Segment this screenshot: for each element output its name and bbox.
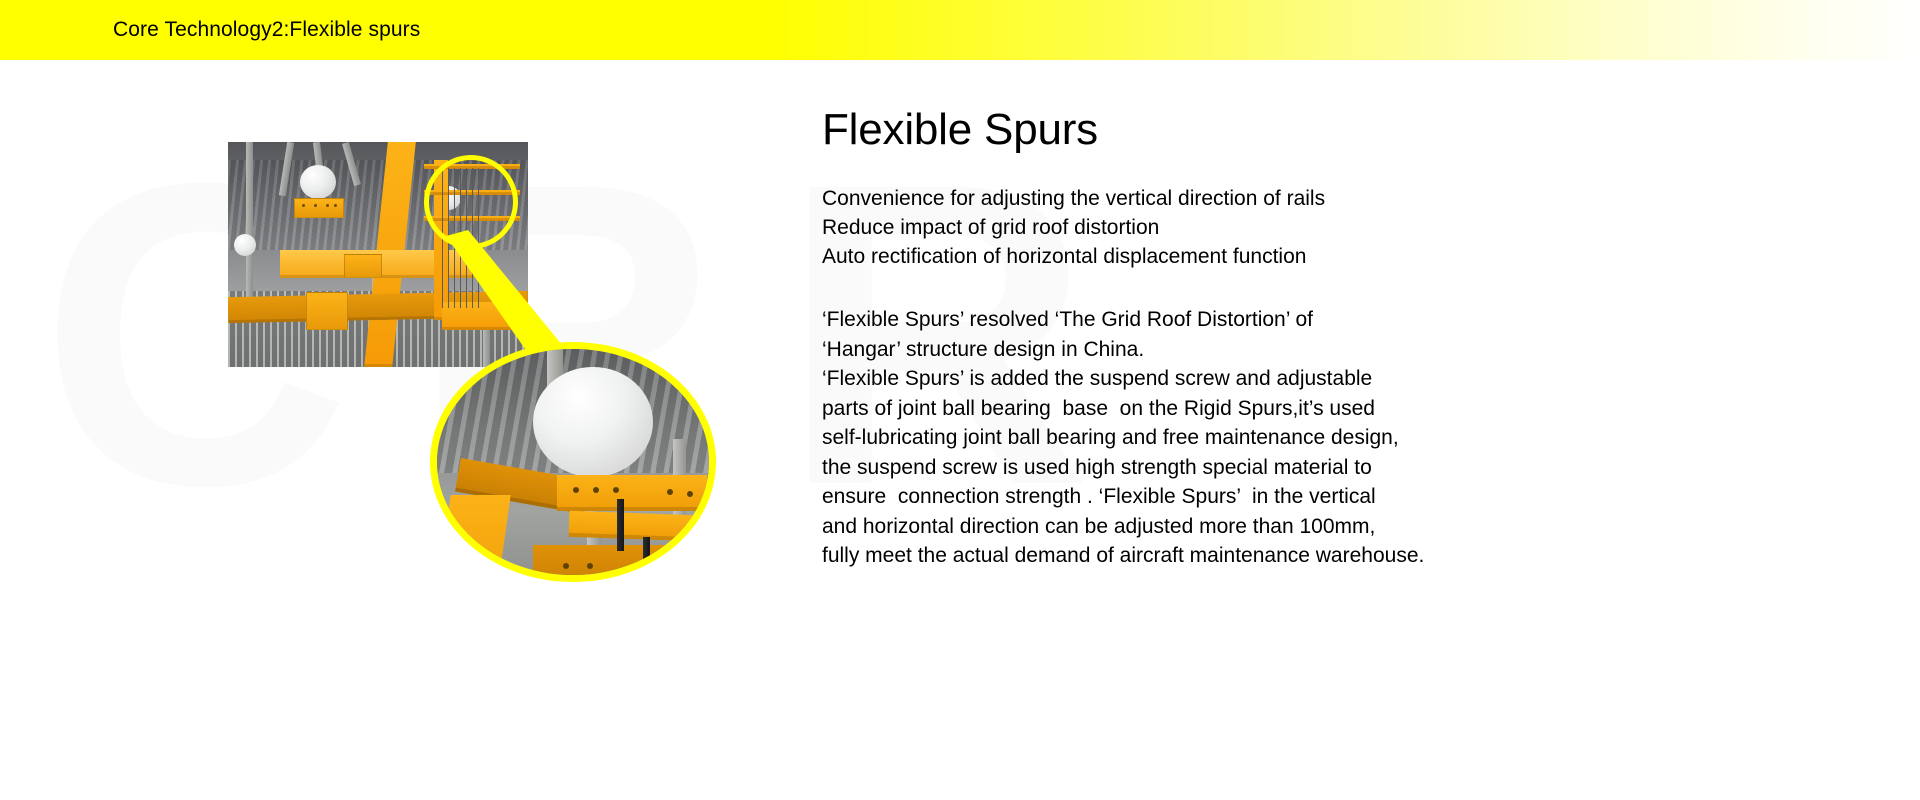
bolt (326, 204, 329, 207)
body-line: ‘Flexible Spurs’ is added the suspend sc… (822, 364, 1422, 394)
bolt (573, 487, 579, 493)
bolt (667, 489, 673, 495)
bolt (334, 204, 337, 207)
trolley-box (344, 254, 382, 278)
bolt (314, 204, 317, 207)
text-column: Flexible Spurs Convenience for adjusting… (822, 104, 1422, 571)
slide-title: Core Technology2:Flexible spurs (113, 18, 420, 42)
title-banner: Core Technology2:Flexible spurs (0, 0, 1920, 60)
figure-group (190, 120, 770, 590)
bolt (593, 487, 599, 493)
suspension-bracket (306, 292, 348, 330)
body-line: self-lubricating joint ball bearing and … (822, 423, 1422, 453)
feature-item: Reduce impact of grid roof distortion (822, 213, 1422, 242)
body-paragraph: ‘Flexible Spurs’ resolved ‘The Grid Roof… (822, 305, 1422, 571)
section-heading: Flexible Spurs (822, 104, 1422, 156)
bolt (613, 487, 619, 493)
bolt (302, 204, 305, 207)
suspend-screw (617, 499, 624, 551)
bolt (687, 491, 693, 497)
bolt (563, 563, 569, 569)
body-line: ‘Hangar’ structure design in China. (822, 335, 1422, 365)
detail-ball-joint (533, 367, 653, 477)
column (246, 142, 253, 302)
bolt (587, 563, 593, 569)
slide-canvas: CRR Core Technology2:Flexible spurs (0, 0, 1920, 800)
body-line: ‘Flexible Spurs’ resolved ‘The Grid Roof… (822, 305, 1422, 335)
detail-suspension-bracket (569, 511, 696, 541)
ball-joint-node (234, 234, 256, 256)
detail-suspension-bracket (557, 475, 707, 511)
magnified-detail-photo (430, 342, 716, 582)
detail-trolley-beam (533, 545, 716, 582)
suspension-bracket (294, 198, 344, 218)
body-line: parts of joint ball bearing base on the … (822, 394, 1422, 424)
body-line: and horizontal direction can be adjusted… (822, 512, 1422, 542)
suspend-screw (643, 537, 650, 577)
feature-list: Convenience for adjusting the vertical d… (822, 184, 1422, 271)
body-line: ensure connection strength . ‘Flexible S… (822, 482, 1422, 512)
feature-item: Auto rectification of horizontal displac… (822, 242, 1422, 271)
body-line: the suspend screw is used high strength … (822, 453, 1422, 483)
ball-joint-node (300, 165, 336, 199)
feature-item: Convenience for adjusting the vertical d… (822, 184, 1422, 213)
body-line: fully meet the actual demand of aircraft… (822, 541, 1422, 571)
